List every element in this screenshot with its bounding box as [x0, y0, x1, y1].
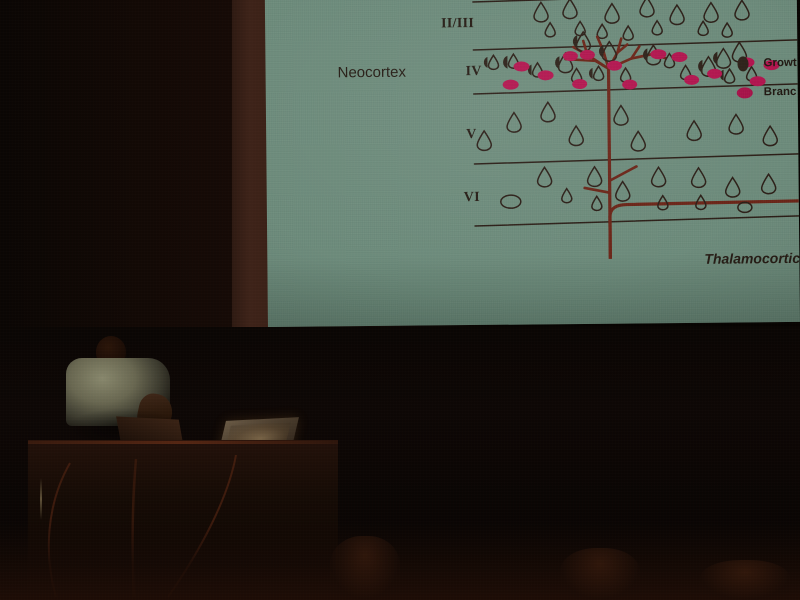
presentation-photo: I II/III IV V VI Neocortex Thalamocortic… [0, 0, 800, 600]
layer-label-V: V [466, 127, 477, 143]
region-label-neocortex: Neocortex [337, 64, 406, 82]
projection-screen: I II/III IV V VI Neocortex Thalamocortic… [265, 0, 800, 327]
stage-floor [0, 520, 800, 600]
layer-5-cells [477, 100, 777, 152]
slide-content: I II/III IV V VI Neocortex Thalamocortic… [265, 0, 800, 327]
growth-cone-icon [737, 56, 748, 71]
left-wall [0, 0, 232, 330]
audience-silhouette [560, 548, 640, 600]
layer-label-II-III: II/III [441, 16, 474, 32]
cortical-layer-diagram [265, 0, 800, 327]
podium-edge [28, 441, 338, 444]
legend-label-growth-cone: Growt [763, 57, 796, 69]
audience-silhouette [330, 536, 400, 600]
legend-label-branch-point: Branc [764, 86, 797, 98]
layer-label-VI: VI [464, 190, 480, 206]
layer-label-IV: IV [465, 64, 481, 80]
layer-6-cells [500, 165, 775, 215]
axon-label-thalamocortical: Thalamocortical [704, 250, 800, 267]
layer-2-3-cells [534, 0, 749, 41]
audience-silhouette [700, 560, 790, 600]
branch-point-markers [502, 48, 779, 91]
light-slit [40, 478, 42, 520]
